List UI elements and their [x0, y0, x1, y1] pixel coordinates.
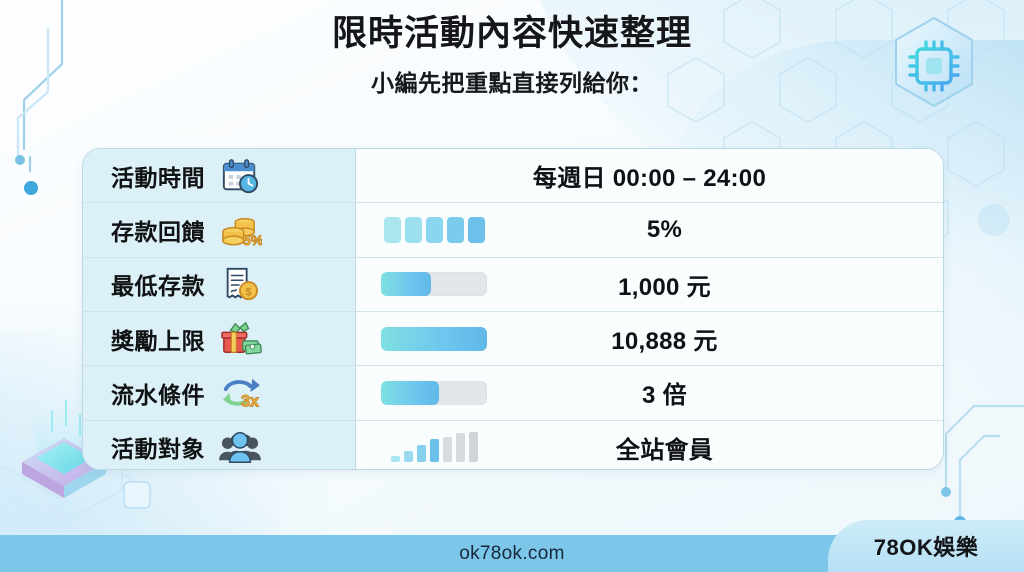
gift-money-icon: [217, 318, 263, 360]
page-subtitle: 小編先把重點直接列給你：: [0, 64, 1024, 98]
row-value: 10,888 元: [506, 321, 943, 356]
page-title: 限時活動內容快速整理: [0, 14, 1024, 54]
svg-text:$: $: [245, 287, 252, 299]
row-value: 全站會員: [506, 430, 943, 465]
slide-canvas: 限時活動內容快速整理 小編先把重點直接列給你： 活動時間: [0, 0, 1024, 572]
users-group-icon: [217, 426, 263, 468]
row-value-cell: 全站會員: [356, 421, 943, 470]
blocks-indicator: [356, 217, 506, 243]
row-label-cell: 存款回饋 5%: [83, 203, 356, 256]
row-label-cell: 最低存款 $: [83, 258, 356, 311]
table-row: 最低存款 $ 1,000 元: [83, 258, 943, 312]
row-label: 活動時間: [111, 159, 205, 193]
brand-badge: 78OK娛樂: [828, 520, 1024, 572]
brand-name: 78OK娛樂: [874, 530, 978, 562]
recycle-3x-icon: 3x: [217, 372, 263, 414]
row-value: 3 倍: [506, 375, 943, 410]
row-label: 最低存款: [111, 267, 205, 301]
table-row: 活動時間: [83, 149, 943, 203]
row-value-cell: 5%: [356, 203, 943, 256]
row-value-cell: 1,000 元: [356, 258, 943, 311]
table-row: 活動對象: [83, 421, 943, 470]
row-value-cell: 每週日 00:00 – 24:00: [356, 149, 943, 202]
progress-indicator: [356, 327, 506, 351]
coins-percent-icon: 5%: [217, 209, 263, 251]
row-label-cell: 獎勵上限: [83, 312, 356, 365]
row-label: 流水條件: [111, 376, 205, 410]
progress-indicator: [356, 272, 506, 296]
sparkbars-indicator: [356, 432, 506, 462]
table-row: 獎勵上限: [83, 312, 943, 366]
calendar-clock-icon: [217, 155, 263, 197]
table-row: 流水條件 3x 3 倍: [83, 366, 943, 420]
progress-indicator: [356, 381, 506, 405]
summary-table-card: 活動時間: [82, 148, 944, 470]
row-value-cell: 3 倍: [356, 366, 943, 419]
row-value: 1,000 元: [506, 267, 943, 302]
row-value: 每週日 00:00 – 24:00: [356, 158, 943, 193]
svg-text:3x: 3x: [241, 392, 259, 410]
row-value-cell: 10,888 元: [356, 312, 943, 365]
row-label: 活動對象: [111, 430, 205, 464]
row-label-cell: 活動對象: [83, 421, 356, 470]
heading-block: 限時活動內容快速整理 小編先把重點直接列給你：: [0, 14, 1024, 98]
table-row: 存款回饋 5%: [83, 203, 943, 257]
row-label: 獎勵上限: [111, 322, 205, 356]
row-label-cell: 活動時間: [83, 149, 356, 202]
svg-text:5%: 5%: [243, 233, 262, 249]
row-label: 存款回饋: [111, 213, 205, 247]
row-value: 5%: [506, 216, 943, 244]
receipt-coin-icon: $: [217, 263, 263, 305]
row-label-cell: 流水條件 3x: [83, 366, 356, 419]
